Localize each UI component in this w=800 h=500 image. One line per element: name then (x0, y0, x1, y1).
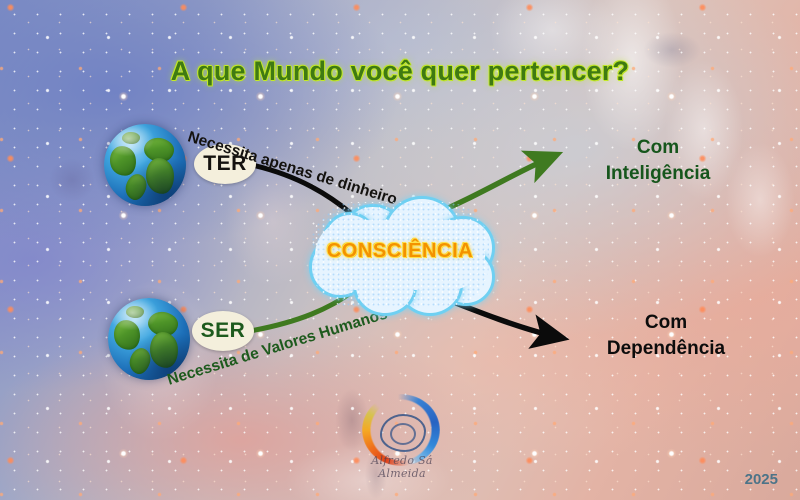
monogram-mark (380, 414, 426, 452)
year-label: 2025 (745, 471, 778, 488)
outcome-dependencia-line2: Dependência (578, 336, 754, 362)
poster-canvas: A que Mundo você quer pertencer? (0, 0, 800, 500)
outcome-dependencia-line1: Com (578, 310, 754, 336)
earth-globe-icon (104, 124, 186, 206)
swirl-logo-icon: Alfredo Sá Almeida (356, 392, 446, 480)
consciencia-cloud[interactable]: CONSCIÊNCIA (305, 196, 495, 314)
badge-ser[interactable]: SER (192, 311, 254, 351)
cloud-label: CONSCIÊNCIA (305, 240, 495, 263)
outcome-inteligencia: Com Inteligência (574, 135, 742, 186)
outcome-inteligencia-line2: Inteligência (574, 161, 742, 187)
outcome-inteligencia-line1: Com (574, 135, 742, 161)
outcome-dependencia: Com Dependência (578, 310, 754, 361)
artist-signature: Alfredo Sá Almeida (350, 454, 454, 480)
